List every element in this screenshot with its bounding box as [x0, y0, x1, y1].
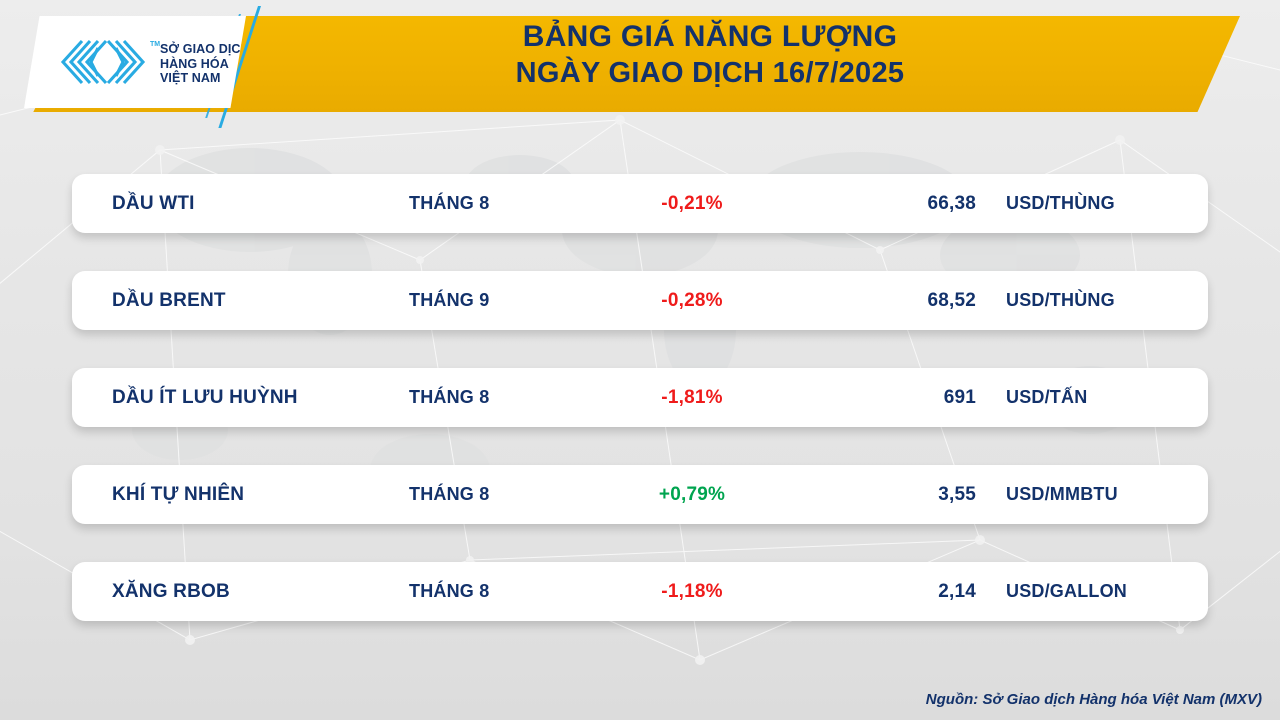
price-unit: USD/TẤN	[1006, 368, 1087, 427]
change-percent: -1,81%	[592, 368, 792, 427]
price-unit: USD/MMBTU	[1006, 465, 1118, 524]
table-row[interactable]: DẦU ÍT LƯU HUỲNH THÁNG 8 -1,81% 691 USD/…	[72, 368, 1208, 427]
logo-line-1: SỞ GIAO DỊCH	[160, 42, 250, 57]
header: BẢNG GIÁ NĂNG LƯỢNG NGÀY GIAO DỊCH 16/7/…	[0, 0, 1280, 128]
logo-line-2: HÀNG HÓA	[160, 57, 250, 72]
mxv-logo-icon	[60, 38, 148, 86]
title-line-2: NGÀY GIAO DỊCH 16/7/2025	[300, 55, 1120, 91]
contract-month: THÁNG 8	[409, 368, 489, 427]
logo-plate: TM SỞ GIAO DỊCH HÀNG HÓA VIỆT NAM	[24, 16, 246, 108]
source-attribution: Nguồn: Sở Giao dịch Hàng hóa Việt Nam (M…	[926, 691, 1262, 708]
contract-month: THÁNG 8	[409, 465, 489, 524]
table-row[interactable]: DẦU BRENT THÁNG 9 -0,28% 68,52 USD/THÙNG	[72, 271, 1208, 330]
page-title: BẢNG GIÁ NĂNG LƯỢNG NGÀY GIAO DỊCH 16/7/…	[300, 19, 1120, 91]
commodity-name: DẦU ÍT LƯU HUỲNH	[112, 368, 298, 427]
price-value: 3,55	[772, 465, 976, 524]
price-value: 691	[772, 368, 976, 427]
commodity-name: DẦU BRENT	[112, 271, 226, 330]
price-unit: USD/THÙNG	[1006, 174, 1115, 233]
trademark-mark: TM	[150, 41, 160, 48]
commodity-name: KHÍ TỰ NHIÊN	[112, 465, 244, 524]
price-table: DẦU WTI THÁNG 8 -0,21% 66,38 USD/THÙNG D…	[72, 174, 1208, 659]
price-unit: USD/THÙNG	[1006, 271, 1115, 330]
price-value: 2,14	[772, 562, 976, 621]
price-value: 68,52	[772, 271, 976, 330]
table-row[interactable]: DẦU WTI THÁNG 8 -0,21% 66,38 USD/THÙNG	[72, 174, 1208, 233]
change-percent: -0,21%	[592, 174, 792, 233]
price-value: 66,38	[772, 174, 976, 233]
change-percent: -0,28%	[592, 271, 792, 330]
commodity-name: DẦU WTI	[112, 174, 195, 233]
title-line-1: BẢNG GIÁ NĂNG LƯỢNG	[300, 19, 1120, 55]
table-row[interactable]: KHÍ TỰ NHIÊN THÁNG 8 +0,79% 3,55 USD/MMB…	[72, 465, 1208, 524]
table-row[interactable]: XĂNG RBOB THÁNG 8 -1,18% 2,14 USD/GALLON	[72, 562, 1208, 621]
energy-price-board: BẢNG GIÁ NĂNG LƯỢNG NGÀY GIAO DỊCH 16/7/…	[0, 0, 1280, 720]
contract-month: THÁNG 8	[409, 174, 489, 233]
contract-month: THÁNG 8	[409, 562, 489, 621]
contract-month: THÁNG 9	[409, 271, 489, 330]
change-percent: +0,79%	[592, 465, 792, 524]
price-unit: USD/GALLON	[1006, 562, 1127, 621]
commodity-name: XĂNG RBOB	[112, 562, 230, 621]
change-percent: -1,18%	[592, 562, 792, 621]
